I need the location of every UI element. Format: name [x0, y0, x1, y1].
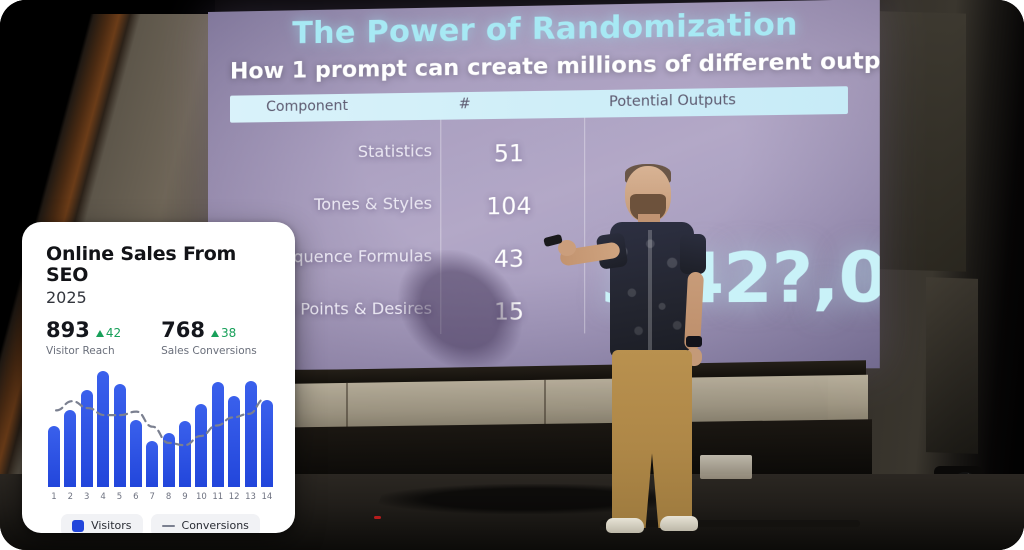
- x-tick-label: 10: [195, 492, 207, 502]
- bar-1[interactable]: [48, 426, 60, 487]
- kpi-delta: 38: [211, 327, 236, 341]
- kpi-delta-value: 38: [221, 327, 236, 339]
- bar-12[interactable]: [228, 396, 240, 488]
- bar-11[interactable]: [212, 382, 224, 488]
- x-tick-label: 4: [97, 492, 109, 502]
- presenter-pants: [612, 350, 692, 528]
- bar-2[interactable]: [64, 410, 76, 488]
- projected-shadow: [387, 250, 533, 370]
- presenter-left-shoe: [606, 518, 644, 533]
- chart-legend[interactable]: Visitors Conversions: [46, 514, 275, 533]
- presenter: [540, 160, 770, 550]
- x-tick-label: 9: [179, 492, 191, 502]
- chart-x-axis: 1234567891011121314: [48, 492, 273, 502]
- square-swatch-icon: [72, 520, 84, 532]
- kpi-label: Sales Conversions: [161, 345, 257, 357]
- x-tick-label: 1: [48, 492, 60, 502]
- x-tick-label: 2: [64, 492, 76, 502]
- x-tick-label: 12: [228, 492, 240, 502]
- arrow-up-icon: [211, 330, 219, 337]
- bar-6[interactable]: [130, 420, 142, 487]
- bar-series: [48, 371, 273, 487]
- column-header-count: #: [459, 96, 471, 112]
- presenter-left-sleeve: [680, 234, 706, 274]
- row-label: Tones & Styles: [240, 195, 432, 215]
- slide-subtitle: How 1 prompt can create millions of diff…: [230, 48, 880, 85]
- bar-5[interactable]: [114, 384, 126, 487]
- kpi-visitor-reach: 893 42 Visitor Reach: [46, 320, 121, 357]
- kpi-value: 768: [161, 320, 205, 341]
- right-wall-panel-lower: [926, 277, 978, 454]
- x-tick-label: 14: [261, 492, 273, 502]
- kpi-label: Visitor Reach: [46, 345, 121, 357]
- column-header-potential-outputs: Potential Outputs: [609, 92, 736, 110]
- legend-label: Visitors: [91, 519, 131, 532]
- x-tick-label: 7: [146, 492, 158, 502]
- legend-item-visitors[interactable]: Visitors: [61, 514, 142, 533]
- legend-item-conversions[interactable]: Conversions: [151, 514, 260, 533]
- x-tick-label: 3: [81, 492, 93, 502]
- x-tick-label: 13: [245, 492, 257, 502]
- screenshot-frame: The Power of Randomization How 1 prompt …: [0, 0, 1024, 550]
- shirt-placket: [648, 230, 652, 352]
- legend-label: Conversions: [182, 519, 249, 532]
- bar-10[interactable]: [195, 404, 207, 488]
- bar-4[interactable]: [97, 371, 109, 487]
- card-title: Online Sales From SEO: [46, 244, 275, 286]
- dashed-line-icon: [162, 525, 175, 527]
- kpi-delta: 42: [96, 327, 121, 341]
- kpi-row: 893 42 Visitor Reach 768 38: [46, 320, 275, 357]
- arrow-up-icon: [96, 330, 104, 337]
- x-tick-label: 5: [114, 492, 126, 502]
- x-tick-label: 8: [163, 492, 175, 502]
- bar-8[interactable]: [163, 433, 175, 488]
- x-tick-label: 6: [130, 492, 142, 502]
- kpi-sales-conversions: 768 38 Sales Conversions: [161, 320, 257, 357]
- bar-14[interactable]: [261, 400, 273, 487]
- x-tick-label: 11: [212, 492, 224, 502]
- bar-3[interactable]: [81, 390, 93, 487]
- column-header-component: Component: [266, 98, 348, 115]
- bar-7[interactable]: [146, 441, 158, 487]
- bar-9[interactable]: [179, 421, 191, 487]
- bar-13[interactable]: [245, 381, 257, 488]
- card-year: 2025: [46, 289, 275, 307]
- floor-marker: [374, 516, 381, 519]
- presenter-right-shoe: [660, 516, 698, 531]
- row-label: Statistics: [240, 142, 432, 162]
- kpi-value: 893: [46, 320, 90, 341]
- chart-plot-area[interactable]: [48, 371, 273, 487]
- analytics-card[interactable]: Online Sales From SEO 2025 893 42 Visito…: [22, 222, 295, 533]
- wristwatch: [686, 336, 702, 347]
- slide-title: The Power of Randomization: [292, 7, 797, 52]
- kpi-delta-value: 42: [106, 327, 121, 339]
